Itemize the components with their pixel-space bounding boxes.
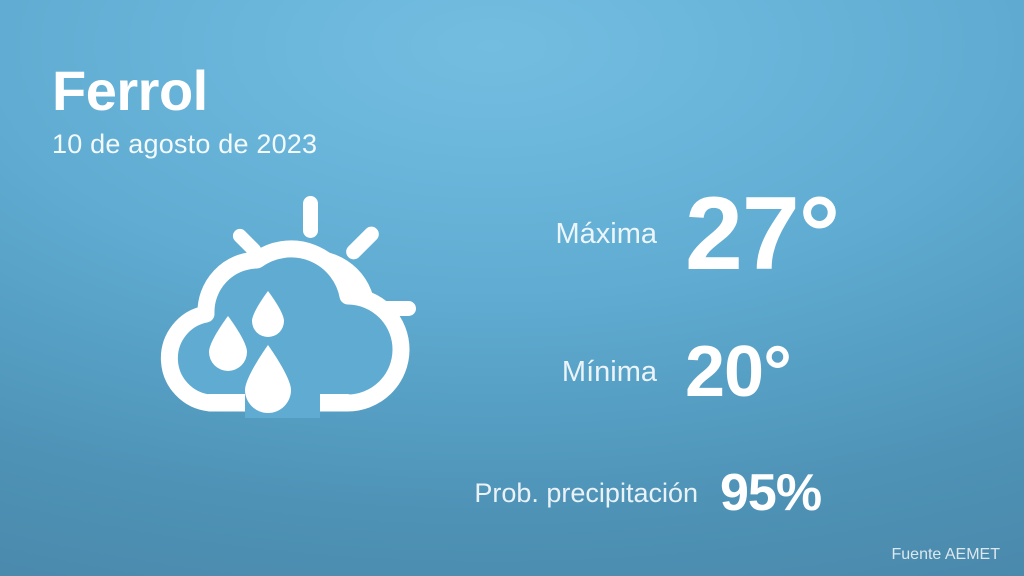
metric-label-minima: Mínima	[435, 356, 685, 389]
metric-row-maxima: Máxima 27°	[400, 178, 945, 290]
metrics-list: Máxima 27° Mínima 20° Prob. precipitació…	[400, 178, 945, 528]
weather-card: Ferrol 10 de agosto de 2023	[0, 0, 1024, 576]
city-name: Ferrol	[52, 62, 532, 121]
metric-label-precipitation: Prob. precipitación	[435, 478, 720, 509]
metric-row-precipitation: Prob. precipitación 95%	[400, 458, 945, 528]
sun-ray-top	[303, 196, 318, 238]
sun-ray-upper-right	[343, 224, 382, 263]
header: Ferrol 10 de agosto de 2023	[52, 62, 532, 160]
metric-row-minima: Mínima 20°	[400, 316, 945, 428]
metric-value-minima: 20°	[685, 336, 945, 408]
metric-value-maxima: 27°	[685, 182, 945, 286]
sun-behind-rain-cloud-icon	[150, 188, 435, 433]
metric-label-maxima: Máxima	[435, 218, 685, 251]
source-credit: Fuente AEMET	[892, 546, 1001, 564]
forecast-date: 10 de agosto de 2023	[52, 129, 532, 160]
metric-value-precipitation: 95%	[720, 467, 945, 519]
